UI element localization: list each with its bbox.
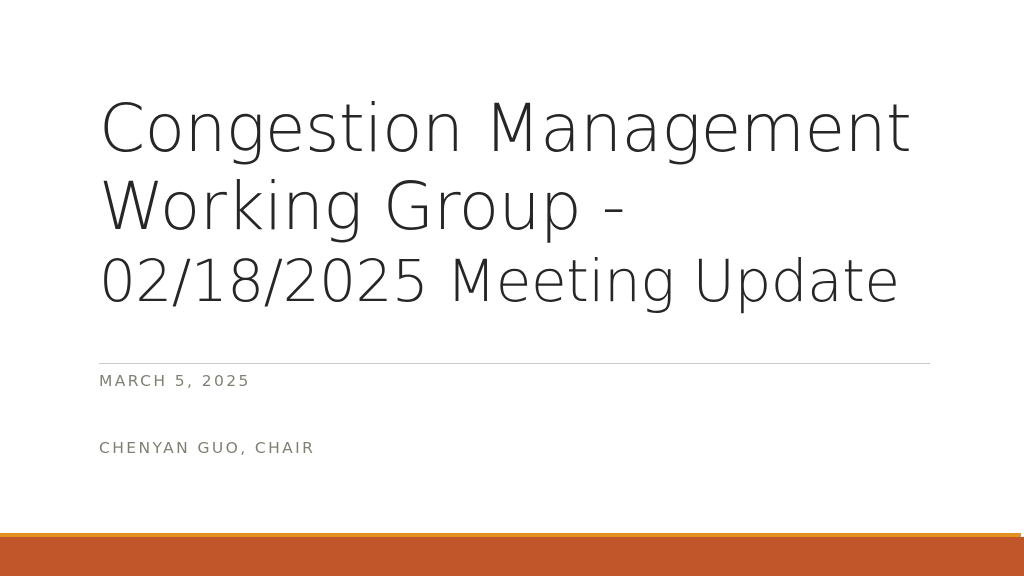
title-divider-rule [99,363,930,364]
accent-bar-thick [0,537,1024,576]
slide-title: Congestion Management Working Group - 02… [99,96,935,310]
slide-subtitle: MARCH 5, 2025 CHENYAN GUO, CHAIR [99,374,935,456]
title-line-3: 02/18/2025 Meeting Update [99,252,935,310]
title-line-1: Congestion Management [99,96,935,162]
title-slide: Congestion Management Working Group - 02… [0,0,1024,576]
subtitle-date: MARCH 5, 2025 [99,374,935,390]
subtitle-presenter: CHENYAN GUO, CHAIR [99,441,935,457]
subtitle-spacer [99,390,935,441]
title-line-2: Working Group - [99,174,935,240]
